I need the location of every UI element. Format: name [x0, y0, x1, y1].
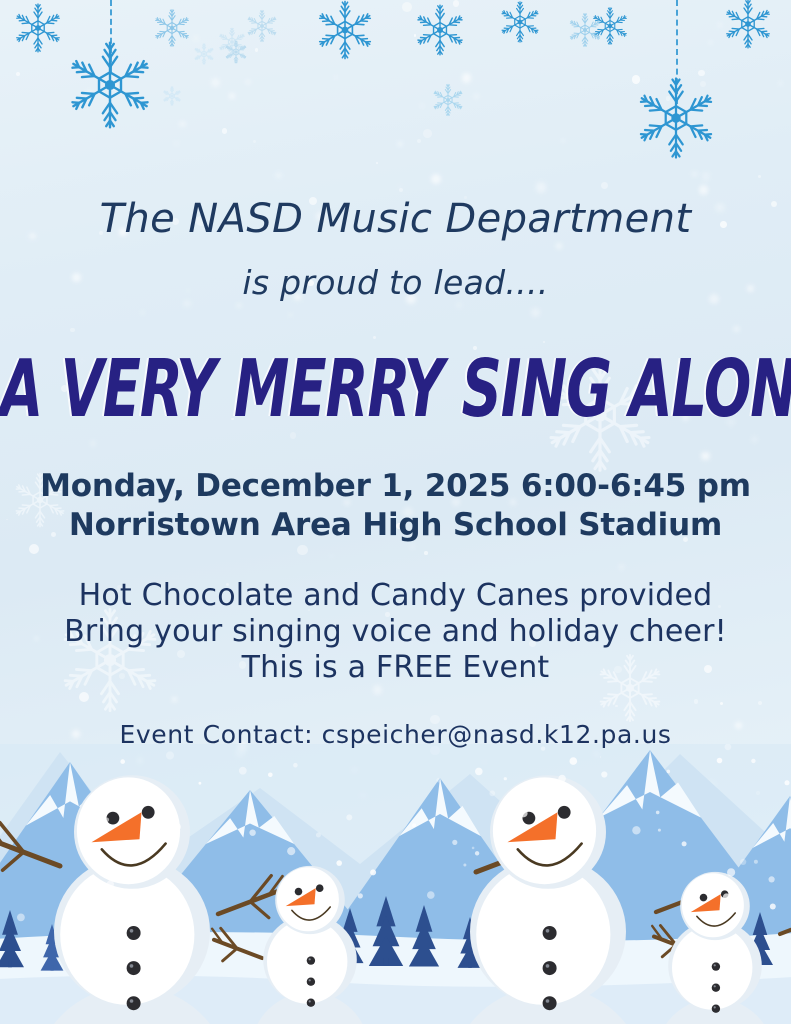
bokeh-dot — [758, 175, 761, 178]
snowflake-icon — [567, 12, 603, 53]
bokeh-dot — [90, 440, 97, 447]
bokeh-dot — [253, 140, 256, 143]
snowman-button — [712, 962, 720, 970]
bokeh-dot — [709, 41, 712, 44]
snowman-eye — [558, 806, 571, 819]
bokeh-dot — [399, 188, 403, 192]
snowman-eye — [142, 806, 155, 819]
holiday-event-flyer: The NASD Music Department is proud to le… — [0, 0, 791, 1024]
bokeh-dot — [29, 544, 39, 554]
bokeh-dot — [694, 101, 701, 108]
snowman-eye — [316, 884, 324, 892]
bokeh-dot — [410, 544, 415, 549]
snowflake-icon — [413, 3, 467, 62]
bokeh-dot — [70, 328, 75, 333]
lead-line-1: The NASD Music Department — [0, 196, 791, 242]
bokeh-dot — [423, 129, 432, 138]
lead-line-2: is proud to lead.... — [0, 263, 791, 302]
bokeh-dot — [701, 452, 710, 461]
bokeh-dot — [297, 545, 307, 555]
bokeh-dot — [87, 91, 90, 94]
bokeh-dot — [222, 128, 228, 134]
snowman-button — [127, 926, 141, 940]
bokeh-dot — [700, 81, 706, 87]
bokeh-dot — [753, 12, 755, 14]
bokeh-dot — [424, 551, 428, 555]
bokeh-dot — [778, 81, 783, 86]
bokeh-dot — [561, 139, 565, 143]
bokeh-dot — [615, 705, 617, 707]
bokeh-dot — [462, 73, 471, 82]
bokeh-dot — [691, 171, 698, 178]
bokeh-dot — [335, 76, 337, 78]
snowflake-icon — [224, 40, 248, 69]
bokeh-dot — [141, 311, 144, 314]
bokeh-dot — [399, 186, 401, 188]
bokeh-dot — [694, 699, 698, 703]
snowman-button — [543, 926, 557, 940]
snowflake-icon — [12, 2, 64, 59]
bokeh-dot — [456, 302, 462, 308]
snowflake-icon — [162, 86, 182, 111]
bokeh-dot — [733, 326, 740, 333]
snowman-button — [307, 978, 315, 986]
event-title: A VERY MERRY SING ALONG — [0, 342, 791, 435]
bokeh-dot — [172, 697, 177, 702]
event-contact[interactable]: Event Contact: cspeicher@nasd.k12.pa.us — [0, 720, 791, 749]
snowflake-icon — [217, 27, 247, 62]
snowman-button — [712, 984, 720, 992]
bokeh-dot — [531, 308, 540, 317]
bokeh-dot — [420, 104, 424, 108]
snowman-button — [712, 1005, 720, 1013]
snowman-eye — [700, 894, 708, 902]
snowflake-icon — [193, 43, 215, 70]
snowflake-icon — [152, 8, 192, 53]
snowflake-string — [676, 0, 678, 104]
snowflake-string — [110, 0, 112, 72]
bokeh-dot — [255, 48, 259, 52]
bokeh-dot — [373, 685, 383, 695]
snowflake-icon — [498, 0, 542, 49]
event-description: Hot Chocolate and Candy Canes provided B… — [0, 578, 791, 686]
description-line-2: Bring your singing voice and holiday che… — [0, 614, 791, 650]
bokeh-dot — [376, 162, 378, 164]
bokeh-dot — [698, 70, 705, 77]
snowman-eye — [107, 812, 120, 825]
snowman-button — [543, 996, 557, 1010]
description-line-3: This is a FREE Event — [0, 650, 791, 686]
bokeh-dot — [417, 139, 421, 143]
winter-scene-illustration — [0, 744, 791, 1024]
bokeh-dot — [601, 182, 608, 189]
bokeh-dot — [632, 75, 641, 84]
event-date-time: Monday, December 1, 2025 6:00-6:45 pm — [0, 468, 791, 504]
bokeh-dot — [16, 72, 20, 76]
bokeh-dot — [619, 564, 625, 570]
bokeh-dot — [414, 34, 417, 37]
snowflake-icon — [245, 9, 279, 48]
bokeh-dot — [398, 142, 402, 146]
bokeh-dot — [556, 243, 562, 249]
bokeh-dot — [453, 0, 459, 6]
bokeh-dot — [758, 701, 762, 705]
snowflake-icon — [314, 0, 376, 66]
bokeh-dot — [718, 23, 723, 28]
event-venue: Norristown Area High School Stadium — [0, 507, 791, 543]
bokeh-dot — [720, 702, 723, 705]
bokeh-dot — [402, 2, 412, 12]
snowflake-icon — [431, 83, 465, 122]
bokeh-dot — [246, 80, 250, 84]
snowman-button — [127, 996, 141, 1010]
bokeh-dot — [431, 174, 441, 184]
bokeh-dot — [474, 94, 479, 99]
bokeh-dot — [373, 336, 376, 339]
bokeh-dot — [536, 182, 547, 193]
bokeh-dot — [110, 82, 119, 91]
snowman-button — [543, 961, 557, 975]
snowflake-icon — [590, 6, 630, 51]
snowman-eye — [295, 888, 303, 896]
bokeh-dot — [193, 36, 199, 42]
description-line-1: Hot Chocolate and Candy Canes provided — [0, 578, 791, 614]
bokeh-dot — [179, 121, 185, 127]
snowman-button — [127, 961, 141, 975]
bokeh-dot — [666, 96, 671, 101]
snowman-button — [307, 956, 315, 964]
bokeh-dot — [751, 436, 758, 443]
bokeh-dot — [79, 692, 89, 702]
bokeh-dot — [211, 78, 221, 88]
bokeh-dot — [229, 93, 236, 100]
bokeh-dot — [237, 304, 241, 308]
snowman-button — [307, 999, 315, 1007]
bokeh-dot — [289, 314, 292, 317]
bokeh-dot — [702, 172, 711, 181]
bokeh-dot — [330, 555, 333, 558]
bokeh-dot — [276, 173, 281, 178]
snowflake-icon — [722, 0, 774, 55]
bokeh-dot — [175, 142, 178, 145]
bokeh-dot — [699, 185, 709, 195]
